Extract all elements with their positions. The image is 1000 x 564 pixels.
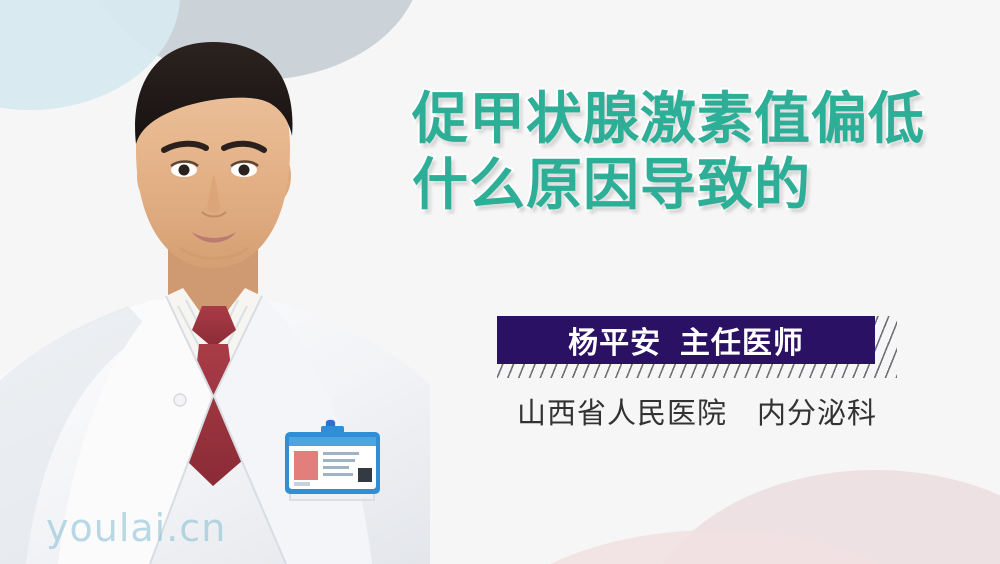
badge-footer-text bbox=[294, 482, 310, 486]
headline-line-1: 促甲状腺激素值偏低 bbox=[412, 86, 972, 152]
headline: 促甲状腺激素值偏低 什么原因导致的 bbox=[412, 86, 972, 218]
badge-clip bbox=[321, 426, 344, 434]
doctor-portrait bbox=[0, 0, 430, 564]
coat-button bbox=[174, 394, 186, 406]
badge-text-line-4 bbox=[323, 473, 353, 476]
decor-circle-bottom-right-rose bbox=[455, 530, 975, 564]
decor-circle-bottom-right-pink bbox=[640, 470, 1000, 564]
pupil-right bbox=[239, 165, 250, 176]
badge-text-line-3 bbox=[323, 466, 349, 469]
pupil-left bbox=[179, 165, 190, 176]
speaker-name-banner: 杨平安 主任医师 bbox=[497, 316, 875, 364]
speaker-name-block: 杨平安 主任医师 bbox=[497, 316, 897, 378]
badge-text-line-2 bbox=[323, 459, 355, 462]
id-badge bbox=[285, 426, 380, 494]
site-watermark: youlai.cn bbox=[46, 506, 226, 550]
badge-photo bbox=[294, 451, 318, 480]
speaker-name-text: 杨平安 主任医师 bbox=[568, 318, 804, 362]
doctor-portrait-illustration bbox=[0, 0, 430, 564]
video-cover-canvas: 促甲状腺激素值偏低 什么原因导致的 杨平安 主任医师 山西省人民医院 内分泌科 … bbox=[0, 0, 1000, 564]
badge-card-header bbox=[289, 437, 376, 446]
headline-line-2: 什么原因导致的 bbox=[412, 152, 972, 218]
badge-qr-code bbox=[358, 468, 372, 482]
badge-text-line-1 bbox=[323, 452, 359, 455]
speaker-affiliation: 山西省人民医院 内分泌科 bbox=[497, 390, 897, 432]
